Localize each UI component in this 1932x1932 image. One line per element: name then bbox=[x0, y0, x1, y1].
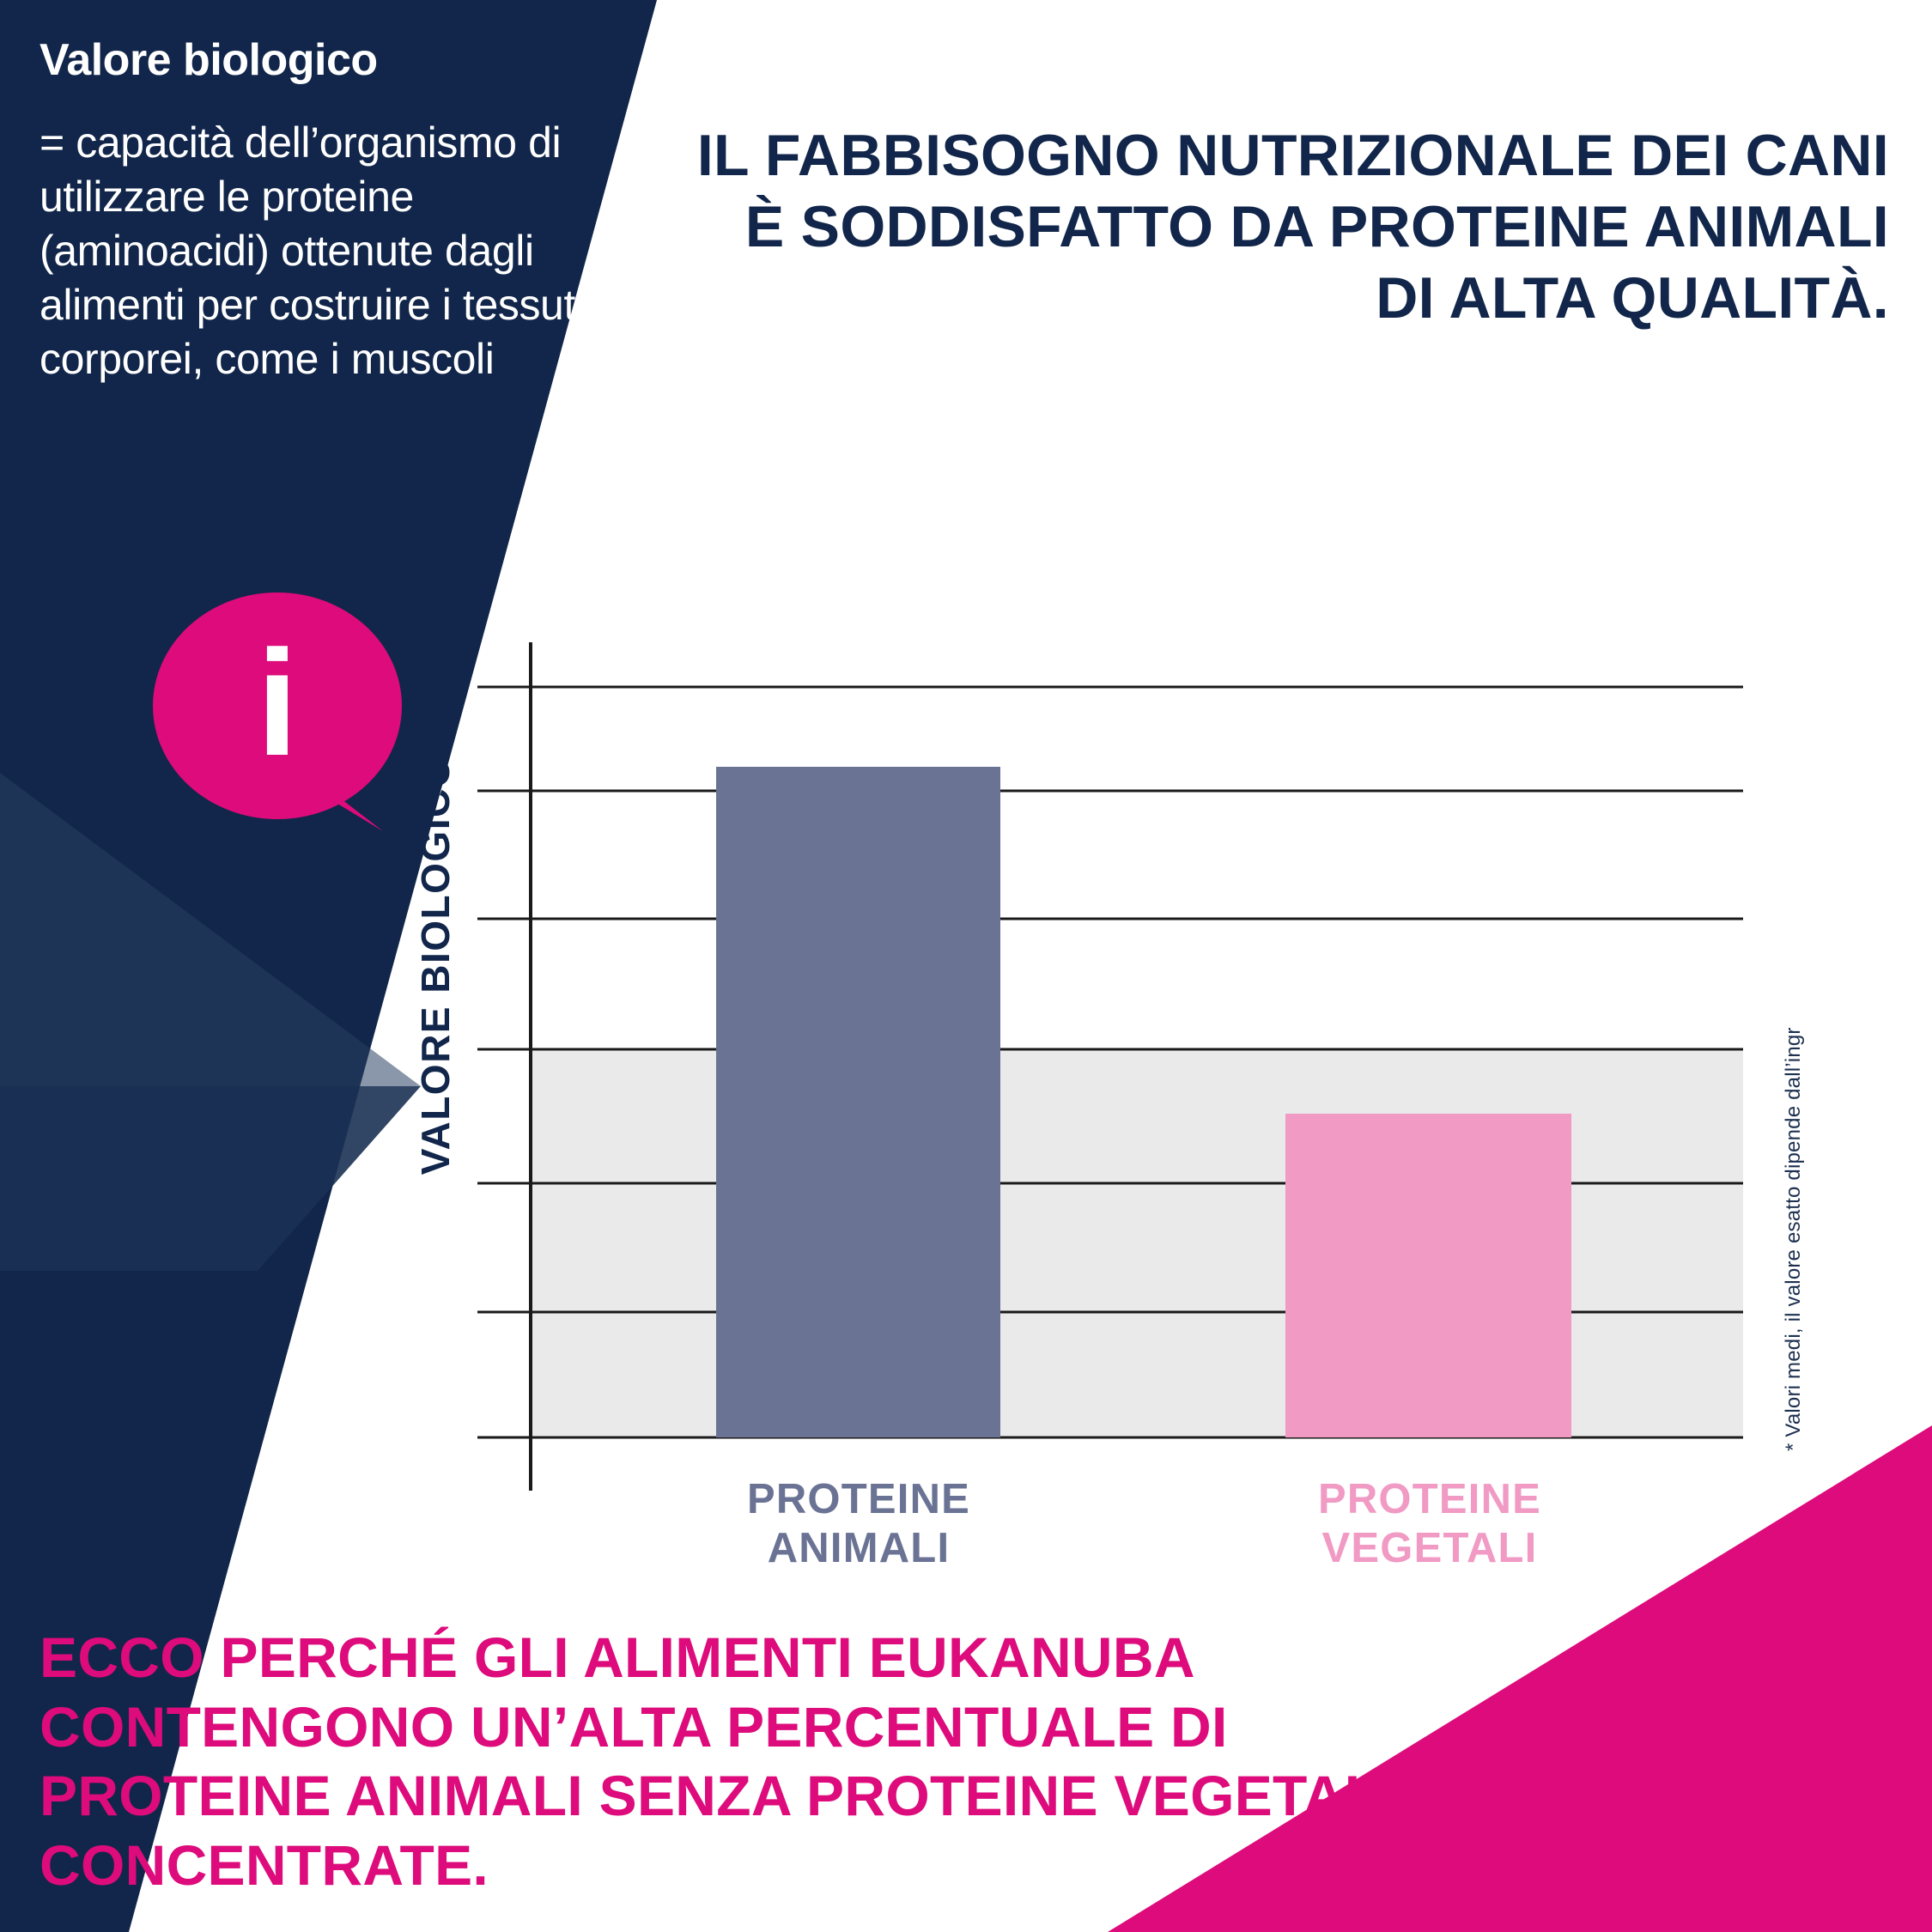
bar-label-proteine-vegetali: PROTEINE VEGETALI bbox=[1249, 1475, 1610, 1573]
headline: IL FABBISOGNO NUTRIZIONALE DEI CANI È SO… bbox=[687, 120, 1889, 334]
info-bubble: i bbox=[153, 592, 402, 841]
info-panel-body: = capacità dell’organismo di utilizzare … bbox=[39, 116, 589, 386]
bar-proteine-vegetali bbox=[1285, 1114, 1571, 1437]
bottom-copy: ECCO PERCHÉ GLI ALIMENTI EUKANUBA CONTEN… bbox=[39, 1623, 1534, 1899]
info-panel: Valore biologico = capacità dell’organis… bbox=[39, 36, 589, 386]
chart-footnote: * Valori medi, il valore esatto dipende … bbox=[1782, 1027, 1806, 1451]
info-i-icon: i bbox=[153, 592, 402, 820]
info-panel-title: Valore biologico bbox=[39, 36, 589, 85]
bar-proteine-animali bbox=[716, 767, 1000, 1437]
bar-label-proteine-animali: PROTEINE ANIMALI bbox=[678, 1475, 1039, 1573]
y-axis-label: VALORE BIOLOGICO bbox=[412, 756, 459, 1175]
